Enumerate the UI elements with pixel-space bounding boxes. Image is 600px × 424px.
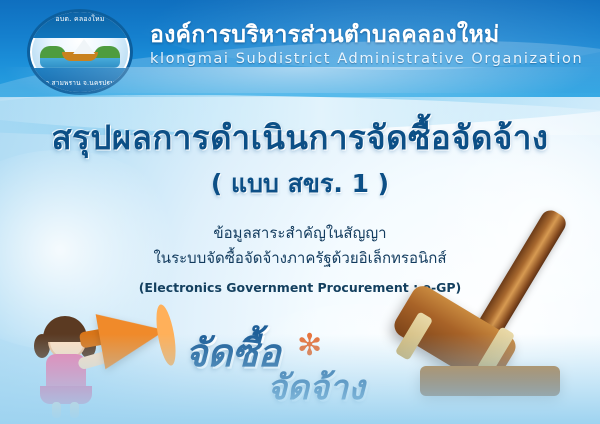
org-name-thai: องค์การบริหารส่วนตำบลคลองใหม่ <box>150 22 590 48</box>
header-titles: องค์การบริหารส่วนตำบลคลองใหม่ klongmai S… <box>150 22 590 67</box>
organization-logo: อบต. คลองใหม่ อ.สามพราน จ.นครปฐม <box>18 7 136 91</box>
bottom-gradient <box>0 334 600 424</box>
logo-emblem-icon: อบต. คลองใหม่ อ.สามพราน จ.นครปฐม <box>27 9 133 95</box>
title-line-1: สรุปผลการดำเนินการจัดซื้อจัดจ้าง <box>0 118 600 158</box>
logo-sail-icon <box>73 39 95 54</box>
poster-canvas: อบต. คลองใหม่ อ.สามพราน จ.นครปฐม องค์การ… <box>0 0 600 424</box>
logo-text-bottom: อ.สามพราน จ.นครปฐม <box>30 78 130 88</box>
logo-text-top: อบต. คลองใหม่ <box>30 14 130 25</box>
header-band: อบต. คลองใหม่ อ.สามพราน จ.นครปฐม องค์การ… <box>0 0 600 97</box>
org-name-english: klongmai Subdistrict Administrative Orga… <box>150 51 590 67</box>
logo-arc-bottom <box>30 68 130 92</box>
page-title: สรุปผลการดำเนินการจัดซื้อจัดจ้าง ( แบบ ส… <box>0 118 600 204</box>
logo-scene <box>40 38 120 68</box>
